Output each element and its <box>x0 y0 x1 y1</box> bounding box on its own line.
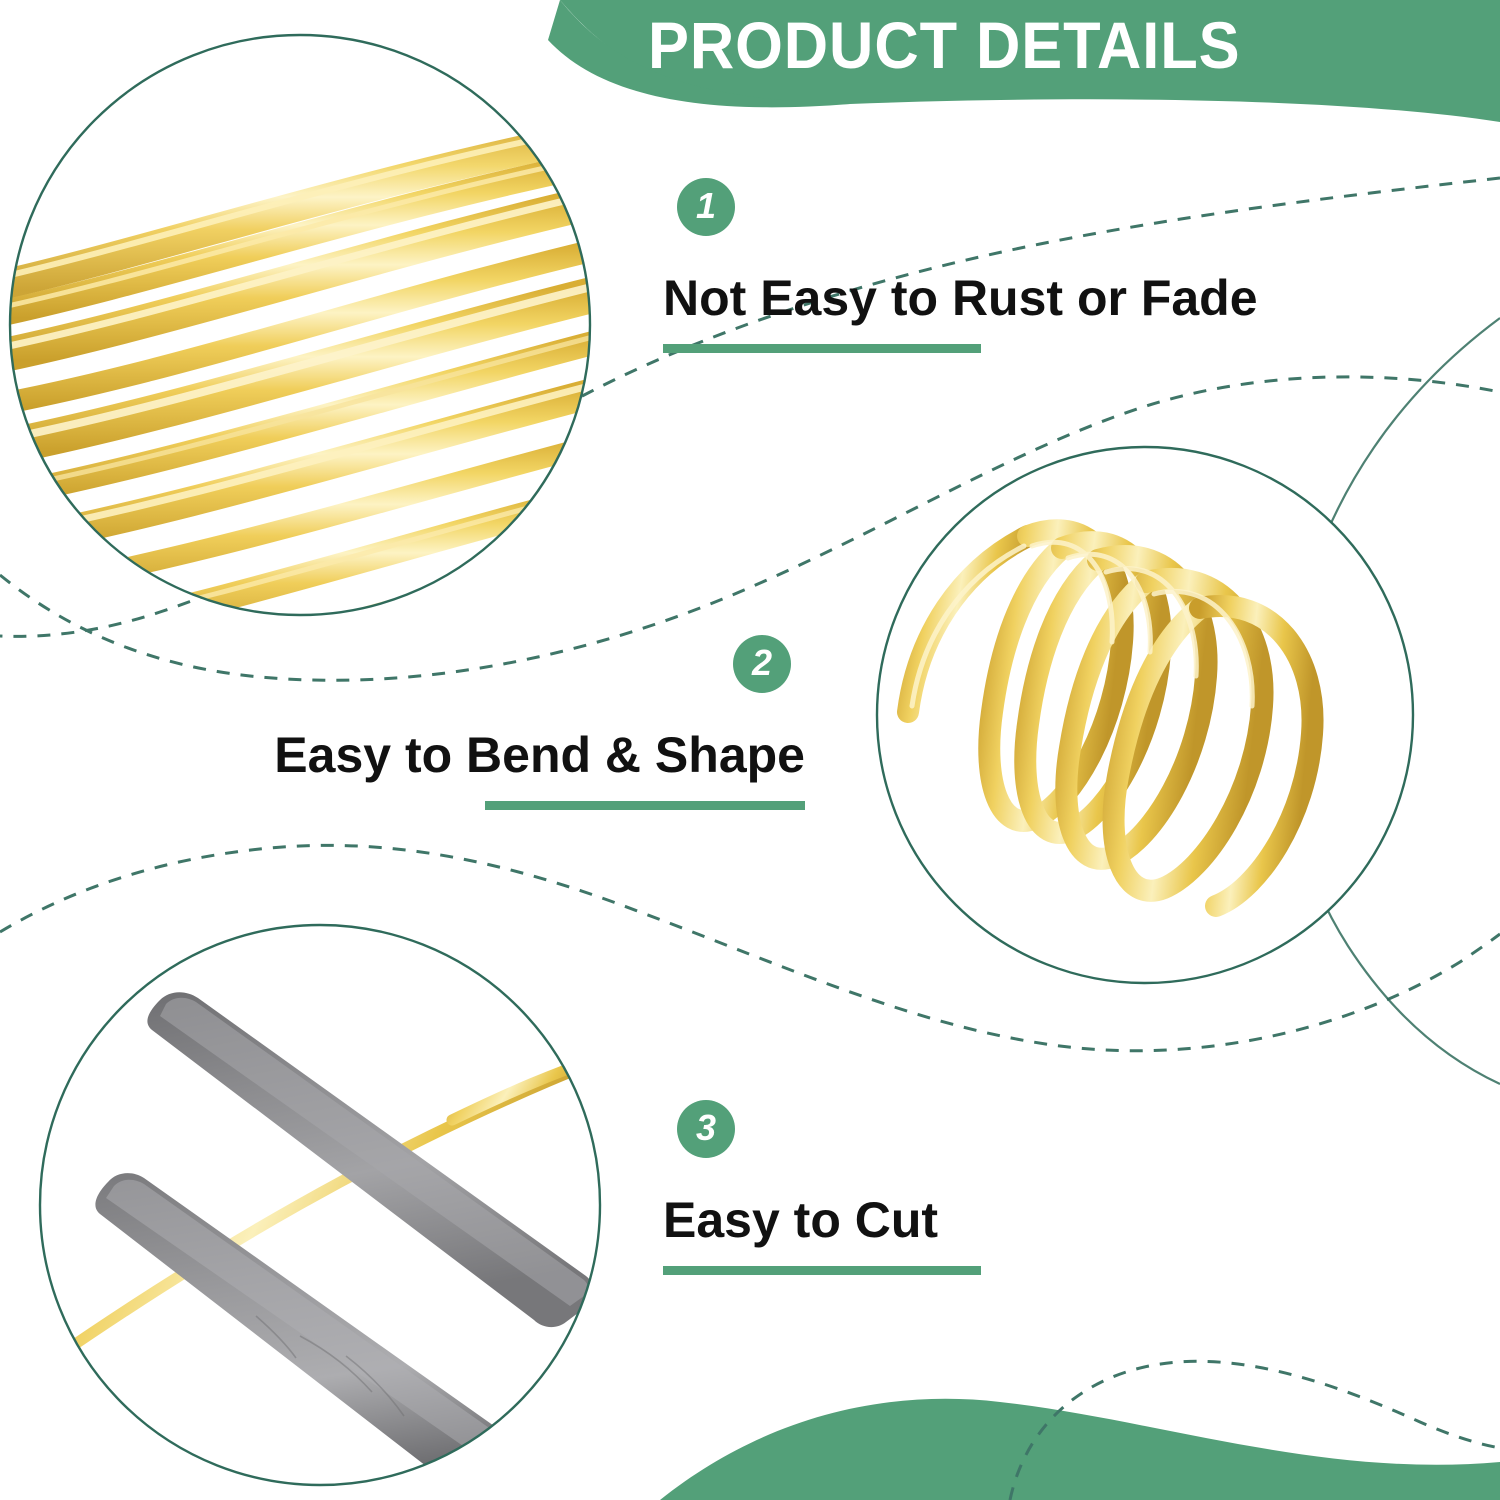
feature-block-3: 3 Easy to Cut <box>663 1100 981 1275</box>
feature-underline-2 <box>485 801 805 810</box>
feature-badge-2: 2 <box>733 635 791 693</box>
feature-block-1: 1 Not Easy to Rust or Fade <box>663 178 1258 353</box>
feature-heading-2: Easy to Bend & Shape <box>255 727 805 783</box>
feature-heading-3: Easy to Cut <box>663 1192 981 1248</box>
gold-wire-coil-photo <box>870 440 1430 1000</box>
feature-block-2: 2 Easy to Bend & Shape <box>255 635 805 810</box>
gold-wire-strands-photo <box>0 35 620 664</box>
scissors-cutting-wire-photo <box>30 915 610 1500</box>
feature-badge-1: 1 <box>677 178 735 236</box>
product-details-infographic: PRODUCT DETAILS 1 Not Easy to Rust or Fa… <box>0 0 1500 1500</box>
feature-underline-1 <box>663 344 981 353</box>
feature-heading-1: Not Easy to Rust or Fade <box>663 270 1258 326</box>
feature-underline-3 <box>663 1266 981 1275</box>
page-title: PRODUCT DETAILS <box>648 8 1299 82</box>
feature-badge-3: 3 <box>677 1100 735 1158</box>
